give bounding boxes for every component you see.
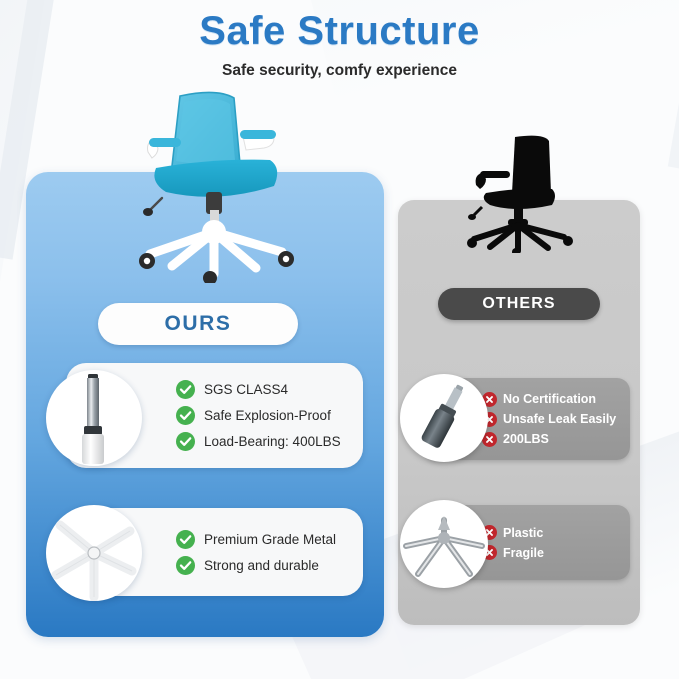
list-item: Safe Explosion-Proof: [176, 406, 341, 425]
list-item: Premium Grade Metal: [176, 530, 336, 549]
ours-feature-list: SGS CLASS4 Safe Explosion-Proof Load-Bea…: [176, 363, 341, 468]
others-badge: OTHERS: [438, 288, 600, 320]
feature-label: Plastic: [503, 526, 543, 540]
others-badge-label: OTHERS: [482, 295, 555, 313]
check-icon: [176, 406, 195, 425]
list-item: Fragile: [482, 545, 544, 560]
list-item: Strong and durable: [176, 556, 336, 575]
feature-label: Strong and durable: [204, 558, 319, 573]
feature-label: 200LBS: [503, 432, 549, 446]
header: Safe Structure Safe security, comfy expe…: [0, 8, 679, 80]
ours-badge-label: OURS: [164, 312, 231, 336]
feature-label: No Certification: [503, 392, 596, 406]
others-gas-cylinder-image: [400, 374, 488, 462]
feature-label: Safe Explosion-Proof: [204, 408, 331, 423]
list-item: No Certification: [482, 392, 616, 407]
ours-feature-list: Premium Grade Metal Strong and durable: [176, 508, 336, 596]
feature-label: Unsafe Leak Easily: [503, 412, 616, 426]
page-subtitle: Safe security, comfy experience: [0, 62, 679, 80]
others-feature-list: Plastic Fragile: [482, 505, 544, 580]
feature-label: SGS CLASS4: [204, 382, 288, 397]
feature-label: Premium Grade Metal: [204, 532, 336, 547]
check-icon: [176, 530, 195, 549]
list-item: 200LBS: [482, 432, 616, 447]
others-feature-list: No Certification Unsafe Leak Easily 200L…: [482, 378, 616, 460]
ours-chair-base-image: [46, 505, 142, 601]
check-icon: [176, 556, 195, 575]
feature-label: Fragile: [503, 546, 544, 560]
ours-product-image: [122, 88, 312, 283]
others-chair-base-image: [400, 500, 488, 588]
list-item: Unsafe Leak Easily: [482, 412, 616, 427]
ours-badge: OURS: [98, 303, 298, 345]
infographic-canvas: Safe Structure Safe security, comfy expe…: [0, 0, 679, 679]
list-item: Load-Bearing: 400LBS: [176, 432, 341, 451]
feature-label: Load-Bearing: 400LBS: [204, 434, 341, 449]
check-icon: [176, 380, 195, 399]
page-title: Safe Structure: [0, 8, 679, 54]
check-icon: [176, 432, 195, 451]
list-item: Plastic: [482, 525, 544, 540]
list-item: SGS CLASS4: [176, 380, 341, 399]
ours-gas-cylinder-image: [46, 370, 142, 466]
others-product-image: [452, 133, 592, 253]
